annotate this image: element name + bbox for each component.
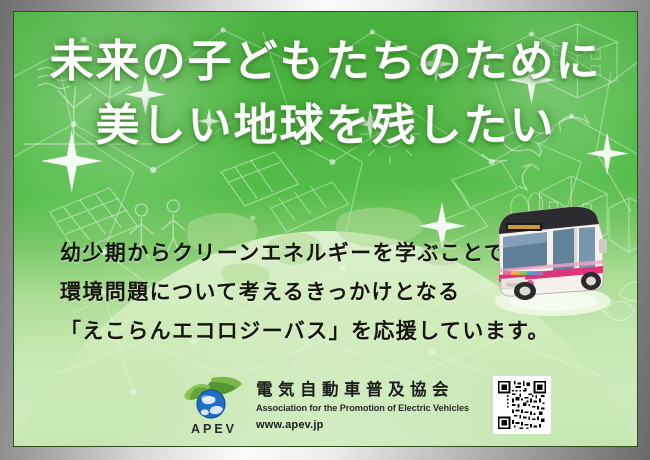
eco-bus-photo [473,187,629,322]
headline-line-1: 未来の子どもたちのために [14,32,637,92]
org-name-jp: 電気自動車普及協会 [256,380,469,399]
poster-frame: 未来の子どもたちのために 美しい地球を残したい [0,0,650,460]
apev-logo-mark: APEV [182,374,246,436]
footer-logo-block: APEV 電気自動車普及協会 Association for the Promo… [182,374,551,436]
organization-info: 電気自動車普及協会 Association for the Promotion … [256,378,469,432]
headline: 未来の子どもたちのために 美しい地球を残したい [14,32,637,156]
org-name-en: Association for the Promotion of Electri… [256,402,469,415]
apev-wordmark: APEV [182,422,246,436]
poster-inner: 未来の子どもたちのために 美しい地球を残したい [13,11,638,447]
qr-code[interactable] [493,376,551,434]
globe-leaf-icon [182,374,246,424]
org-url[interactable]: www.apev.jp [256,418,469,432]
headline-line-2: 美しい地球を残したい [14,96,637,156]
